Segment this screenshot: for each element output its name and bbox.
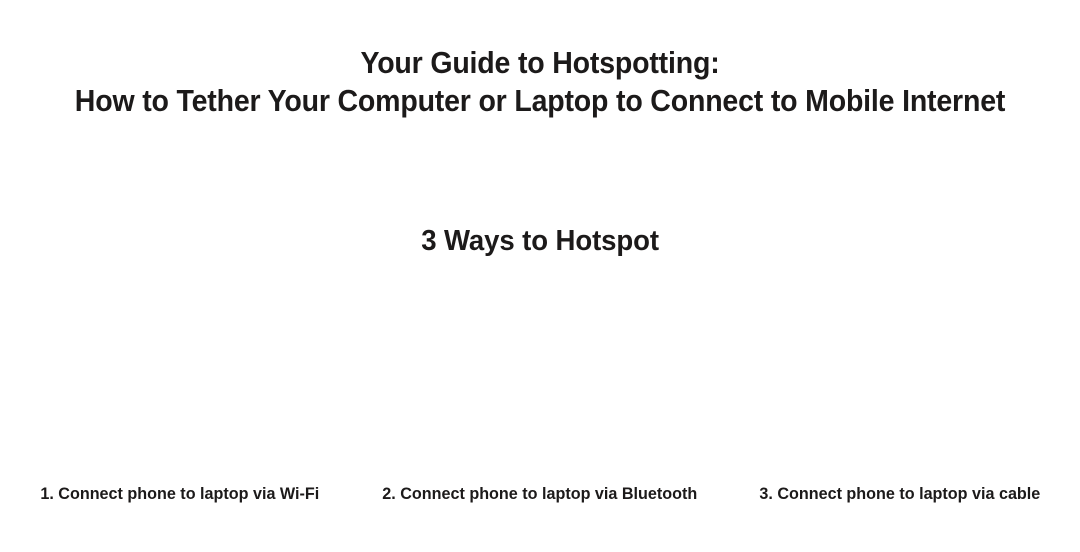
method-column-3: 3. Connect phone to laptop via cable [720,280,1080,530]
method-column-1: 1. Connect phone to laptop via Wi-Fi [0,280,360,530]
section-heading: 3 Ways to Hotspot [0,223,1080,259]
wifi-tethering-illustration [30,298,330,483]
infographic-page: Your Guide to Hotspotting: How to Tether… [0,0,1080,552]
methods-row: 1. Connect phone to laptop via Wi-Fi 2. … [0,280,1080,530]
method-column-2: 2. Connect phone to laptop via Bluetooth [360,280,720,530]
method-caption-3: 3. Connect phone to laptop via cable [760,483,1041,505]
cable-tethering-illustration [750,298,1050,483]
method-caption-1: 1. Connect phone to laptop via Wi-Fi [41,483,320,505]
method-caption-2: 2. Connect phone to laptop via Bluetooth [383,483,698,505]
section-heading-text: 3 Ways to Hotspot [421,223,659,259]
page-title-line-1: Your Guide to Hotspotting: [43,44,1037,82]
bluetooth-tethering-illustration [390,298,690,483]
page-title-line-2: How to Tether Your Computer or Laptop to… [43,82,1037,120]
page-title: Your Guide to Hotspotting: How to Tether… [0,44,1080,120]
